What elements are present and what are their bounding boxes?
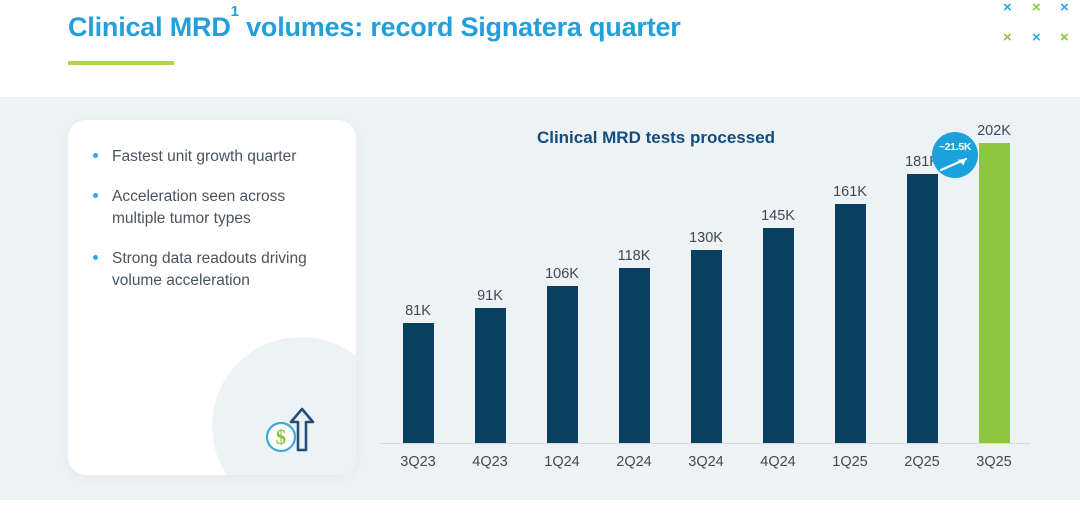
svg-text:$: $ [276,425,287,449]
bar-group: 202K3Q25 [958,143,1030,443]
x-mark-5: × [1032,30,1041,45]
bullet-item: Acceleration seen across multiple tumor … [90,186,340,230]
title-accent-underline [68,61,174,65]
bar-category-label: 1Q25 [814,454,886,470]
bullet-item: Fastest unit growth quarter [90,146,340,168]
bullet-dot-icon [93,193,98,198]
x-mark-6: × [1060,30,1069,45]
page-title-rest: volumes: record Signatera quarter [239,12,681,42]
page-title-main: Clinical MRD [68,12,231,42]
bar-4Q23[interactable] [475,308,506,443]
bar-2Q25[interactable] [907,174,938,443]
page-title-footnote-marker: 1 [231,3,239,20]
growth-callout-label: ~21.5K [932,141,978,153]
bar-3Q24[interactable] [691,250,722,443]
chart-baseline-axis [380,443,1030,444]
bar-category-label: 3Q24 [670,454,742,470]
bar-2Q24[interactable] [619,268,650,443]
bar-value-label: 130K [670,230,742,246]
bar-value-label: 161K [814,184,886,200]
bullet-text: Acceleration seen across multiple tumor … [112,188,285,227]
bar-group: 161K1Q25 [814,143,886,443]
bar-group: 145K4Q24 [742,143,814,443]
bar-chart: Clinical MRD tests processed 81K3Q2391K4… [376,110,1036,475]
bar-category-label: 3Q23 [382,454,454,470]
bar-group: 130K3Q24 [670,143,742,443]
bullet-dot-icon [93,255,98,260]
bullet-text: Strong data readouts driving volume acce… [112,250,307,289]
page-header: Clinical MRD1 volumes: record Signatera … [0,0,1080,97]
bar-4Q24[interactable] [763,228,794,443]
x-mark-3: × [1060,0,1069,15]
bar-category-label: 2Q25 [886,454,958,470]
bar-group: 81K3Q23 [382,143,454,443]
bar-group: 91K4Q23 [454,143,526,443]
bullet-text: Fastest unit growth quarter [112,148,296,165]
bar-1Q25[interactable] [835,204,866,443]
bar-category-label: 2Q24 [598,454,670,470]
bullet-item: Strong data readouts driving volume acce… [90,248,340,292]
x-mark-2: × [1032,0,1041,15]
highlights-bullet-list: Fastest unit growth quarterAcceleration … [90,146,340,310]
arrow-up-right-icon [939,156,971,172]
page-title: Clinical MRD1 volumes: record Signatera … [68,12,681,43]
bar-value-label: 81K [382,303,454,319]
dollar-growth-icon: $ [258,400,320,462]
bar-group: 106K1Q24 [526,143,598,443]
bullet-dot-icon [93,153,98,158]
bar-3Q25[interactable] [979,143,1010,443]
bar-category-label: 3Q25 [958,454,1030,470]
bar-1Q24[interactable] [547,286,578,443]
bar-value-label: 118K [598,248,670,264]
bar-value-label: 145K [742,208,814,224]
growth-callout-badge: ~21.5K [932,132,978,178]
bar-value-label: 91K [454,288,526,304]
bar-group: 181K2Q25 [886,143,958,443]
bar-category-label: 4Q23 [454,454,526,470]
bar-group: 118K2Q24 [598,143,670,443]
bar-value-label: 106K [526,266,598,282]
x-mark-1: × [1003,0,1012,15]
bar-category-label: 4Q24 [742,454,814,470]
x-mark-4: × [1003,30,1012,45]
bar-3Q23[interactable] [403,323,434,443]
bar-category-label: 1Q24 [526,454,598,470]
